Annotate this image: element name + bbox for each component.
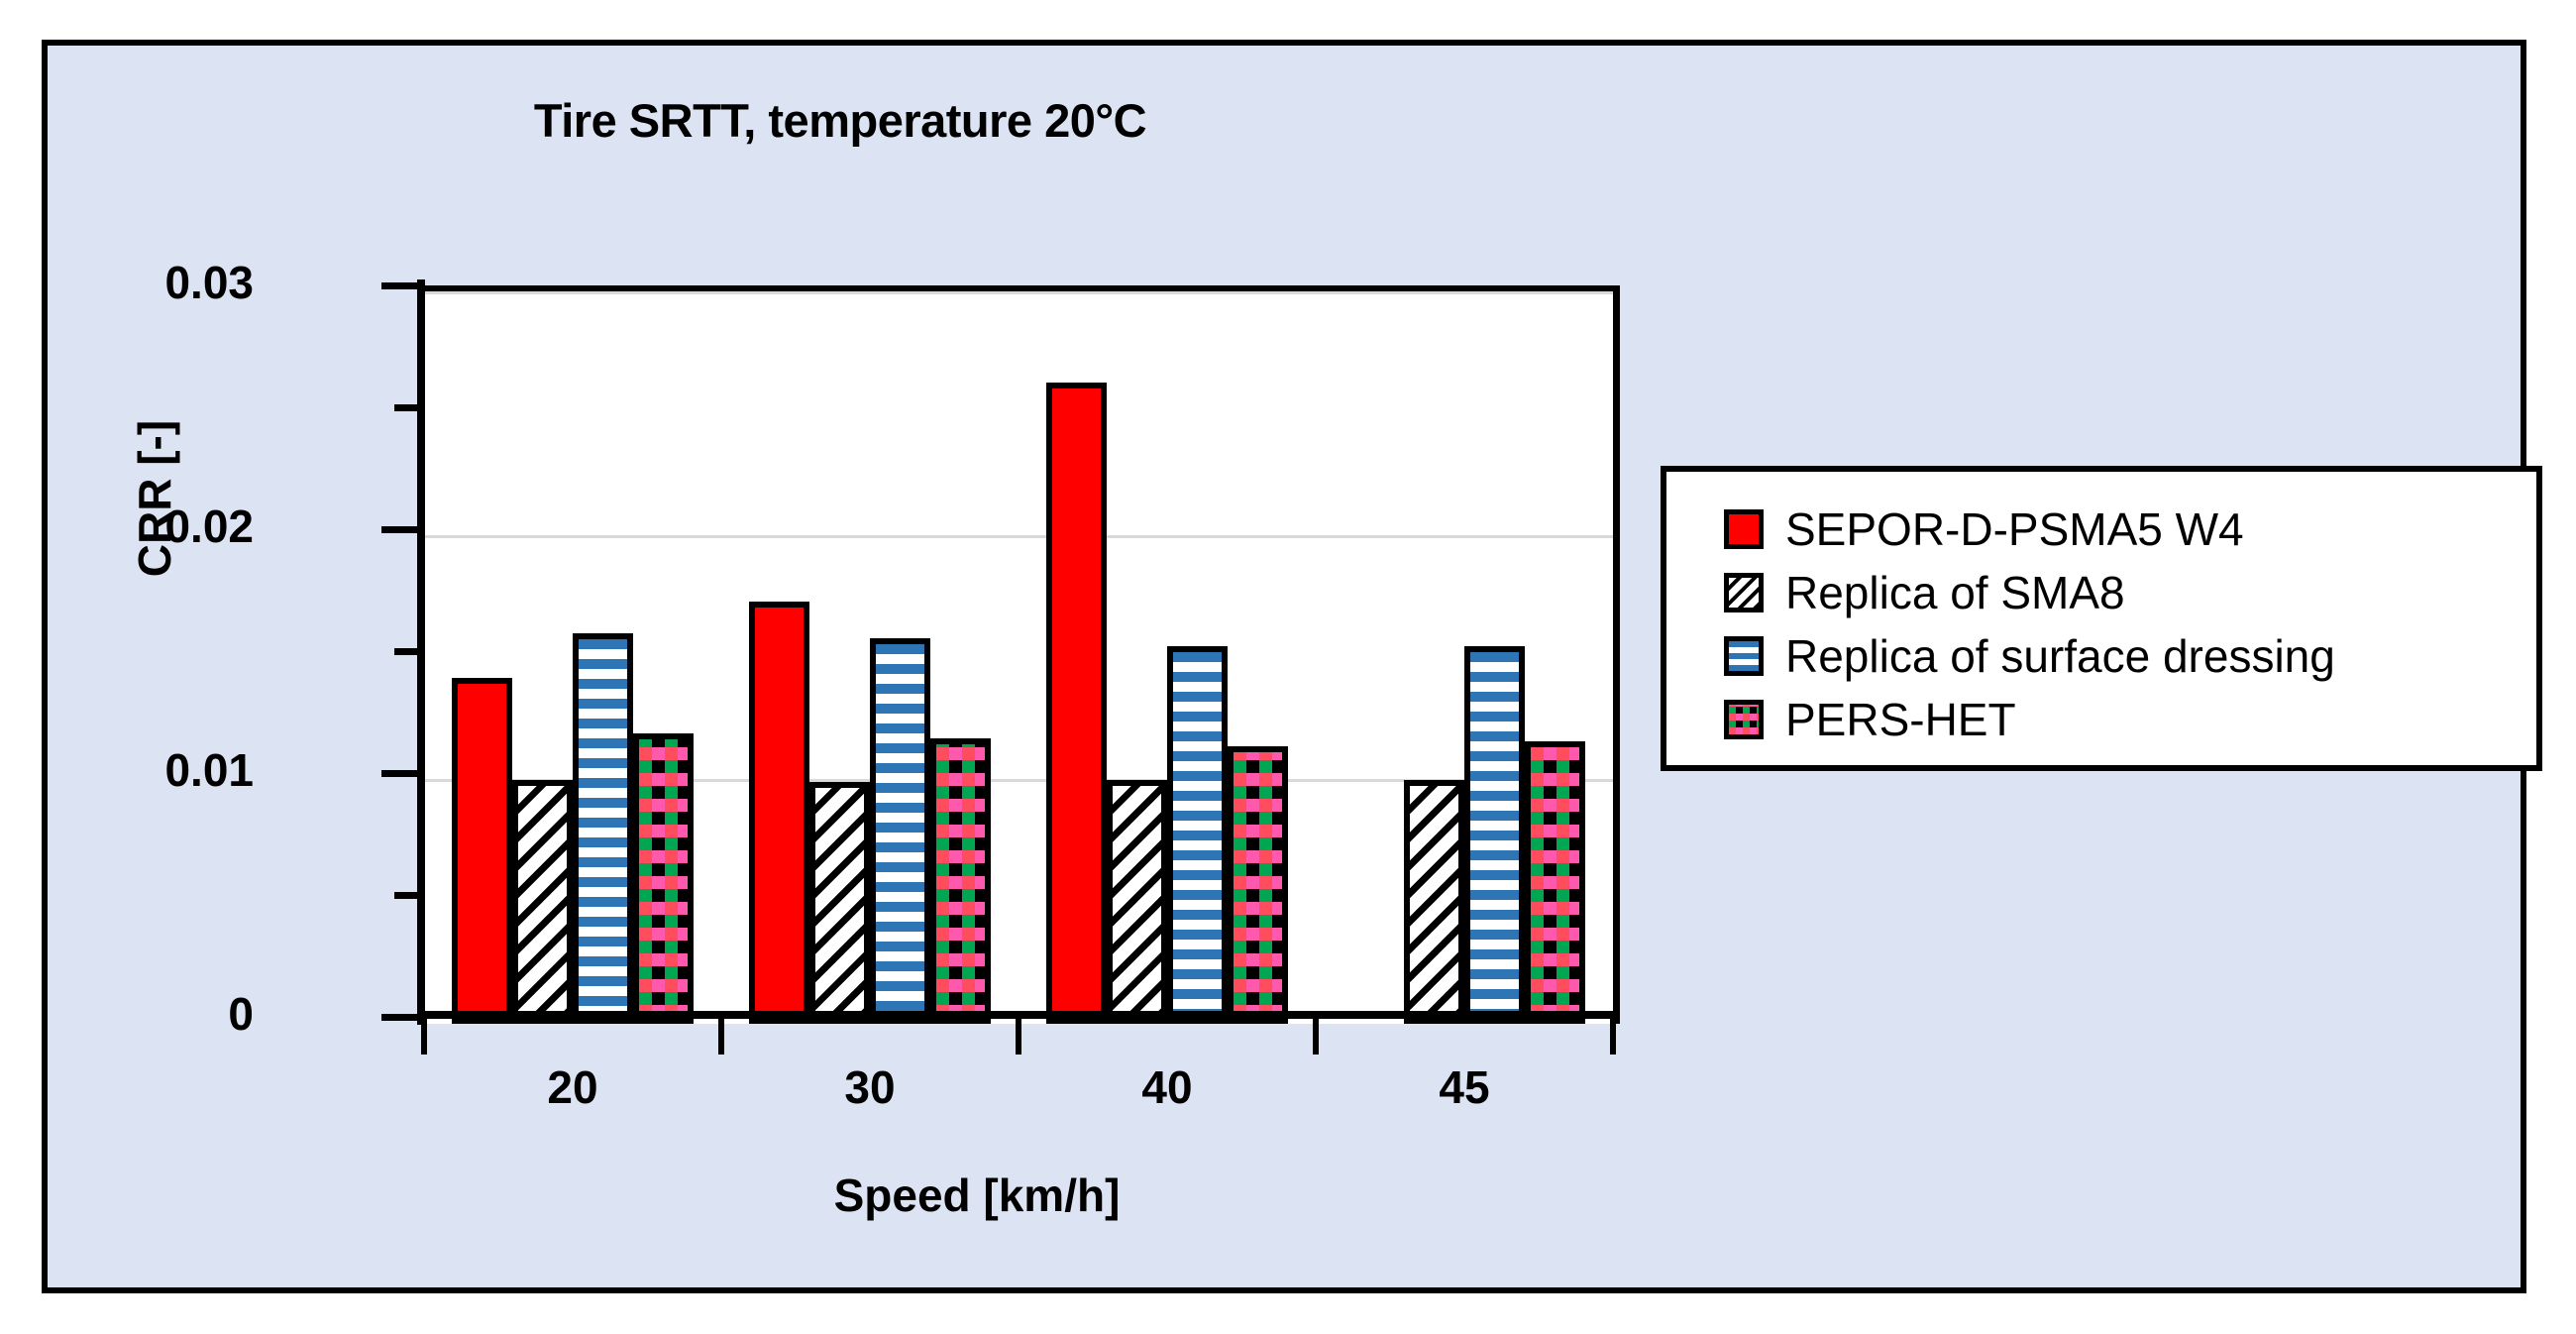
x-tick [718,1017,724,1055]
bar [1167,646,1228,1024]
bar [809,782,870,1024]
legend-item[interactable]: Replica of SMA8 [1724,561,2536,624]
bar [1525,741,1585,1024]
chart-frame: Tire SRTT, temperature 20°C CRR [-] Spee… [42,40,2526,1293]
bar [930,738,991,1024]
legend-label: Replica of SMA8 [1785,570,2125,615]
bar [1464,646,1525,1024]
x-tick [421,1017,427,1055]
y-tick-label: 0 [0,987,254,1041]
legend-label: SEPOR-D-PSMA5 W4 [1785,506,2244,552]
y-tick-minor [394,404,425,411]
legend-item[interactable]: SEPOR-D-PSMA5 W4 [1724,498,2536,561]
chart-legend: SEPOR-D-PSMA5 W4Replica of SMA8Replica o… [1661,466,2542,771]
gridline [424,535,1613,538]
y-tick-label: 0.03 [0,256,254,309]
bar [870,638,930,1024]
legend-swatch-icon [1724,636,1764,676]
y-tick-major [381,770,425,777]
legend-swatch-icon [1724,509,1764,549]
legend-item[interactable]: PERS-HET [1724,688,2536,751]
legend-label: Replica of surface dressing [1785,633,2335,679]
legend-swatch-icon [1724,573,1764,612]
bar [573,633,633,1024]
y-tick-major [381,1014,425,1021]
y-tick-label: 0.01 [0,743,254,797]
legend-swatch-icon [1724,700,1764,739]
x-tick [1016,1017,1021,1055]
x-axis-title: Speed [km/h] [382,1168,1571,1222]
plot-area [424,285,1620,1024]
y-tick-minor [394,892,425,899]
chart-root: Tire SRTT, temperature 20°C CRR [-] Spee… [0,0,2576,1334]
legend-item[interactable]: Replica of surface dressing [1724,624,2536,688]
y-tick-label: 0.02 [0,500,254,553]
x-tick [1313,1017,1319,1055]
y-tick-minor [394,648,425,655]
y-tick-major [381,526,425,533]
bar [452,678,512,1024]
x-tick [1610,1017,1616,1055]
x-tick-label: 45 [1365,1060,1563,1114]
bar [749,602,809,1024]
x-tick-label: 30 [771,1060,969,1114]
bar [1107,780,1167,1024]
bar [1228,746,1288,1024]
bar [512,780,573,1024]
x-tick-label: 40 [1068,1060,1266,1114]
x-tick-label: 20 [474,1060,672,1114]
y-axis-title: CRR [-] [128,335,181,662]
bar [1046,383,1107,1024]
y-tick-major [381,282,425,289]
chart-title: Tire SRTT, temperature 20°C [48,93,1633,148]
bar [1404,780,1464,1024]
plot-inner [424,292,1613,1024]
gridline [424,291,1613,294]
legend-label: PERS-HET [1785,697,2016,742]
bar [633,733,694,1024]
